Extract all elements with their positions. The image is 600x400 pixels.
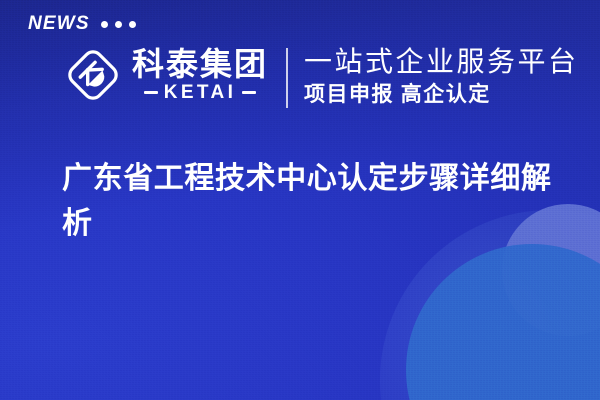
news-banner: NEWS 科泰集团	[0, 0, 600, 400]
vertical-divider-icon	[286, 48, 288, 108]
tagline-main: 一站式企业服务平台	[304, 45, 579, 79]
brand-lockup: 科泰集团 KETAI	[62, 44, 268, 106]
tagline-sub: 项目申报 高企认定	[304, 82, 579, 107]
brand-names: 科泰集团 KETAI	[132, 48, 268, 102]
headline-title: 广东省工程技术中心认定步骤详细解析	[62, 156, 562, 246]
dot-icon	[129, 21, 136, 28]
brand-name-en: KETAI	[164, 83, 237, 102]
eyebrow-label: NEWS	[28, 14, 90, 33]
brand-rule-right-icon	[242, 91, 256, 94]
dot-icon	[101, 21, 108, 28]
tagline-block: 一站式企业服务平台 项目申报 高企认定	[304, 45, 579, 107]
eyebrow: NEWS	[28, 14, 136, 33]
brand-name-en-row: KETAI	[132, 83, 268, 102]
three-dots-icon	[101, 20, 136, 28]
brand-rule-left-icon	[144, 91, 158, 94]
brand-name-cn: 科泰集团	[132, 48, 268, 82]
ketai-diamond-monogram-icon	[62, 44, 124, 106]
dot-icon	[115, 21, 122, 28]
